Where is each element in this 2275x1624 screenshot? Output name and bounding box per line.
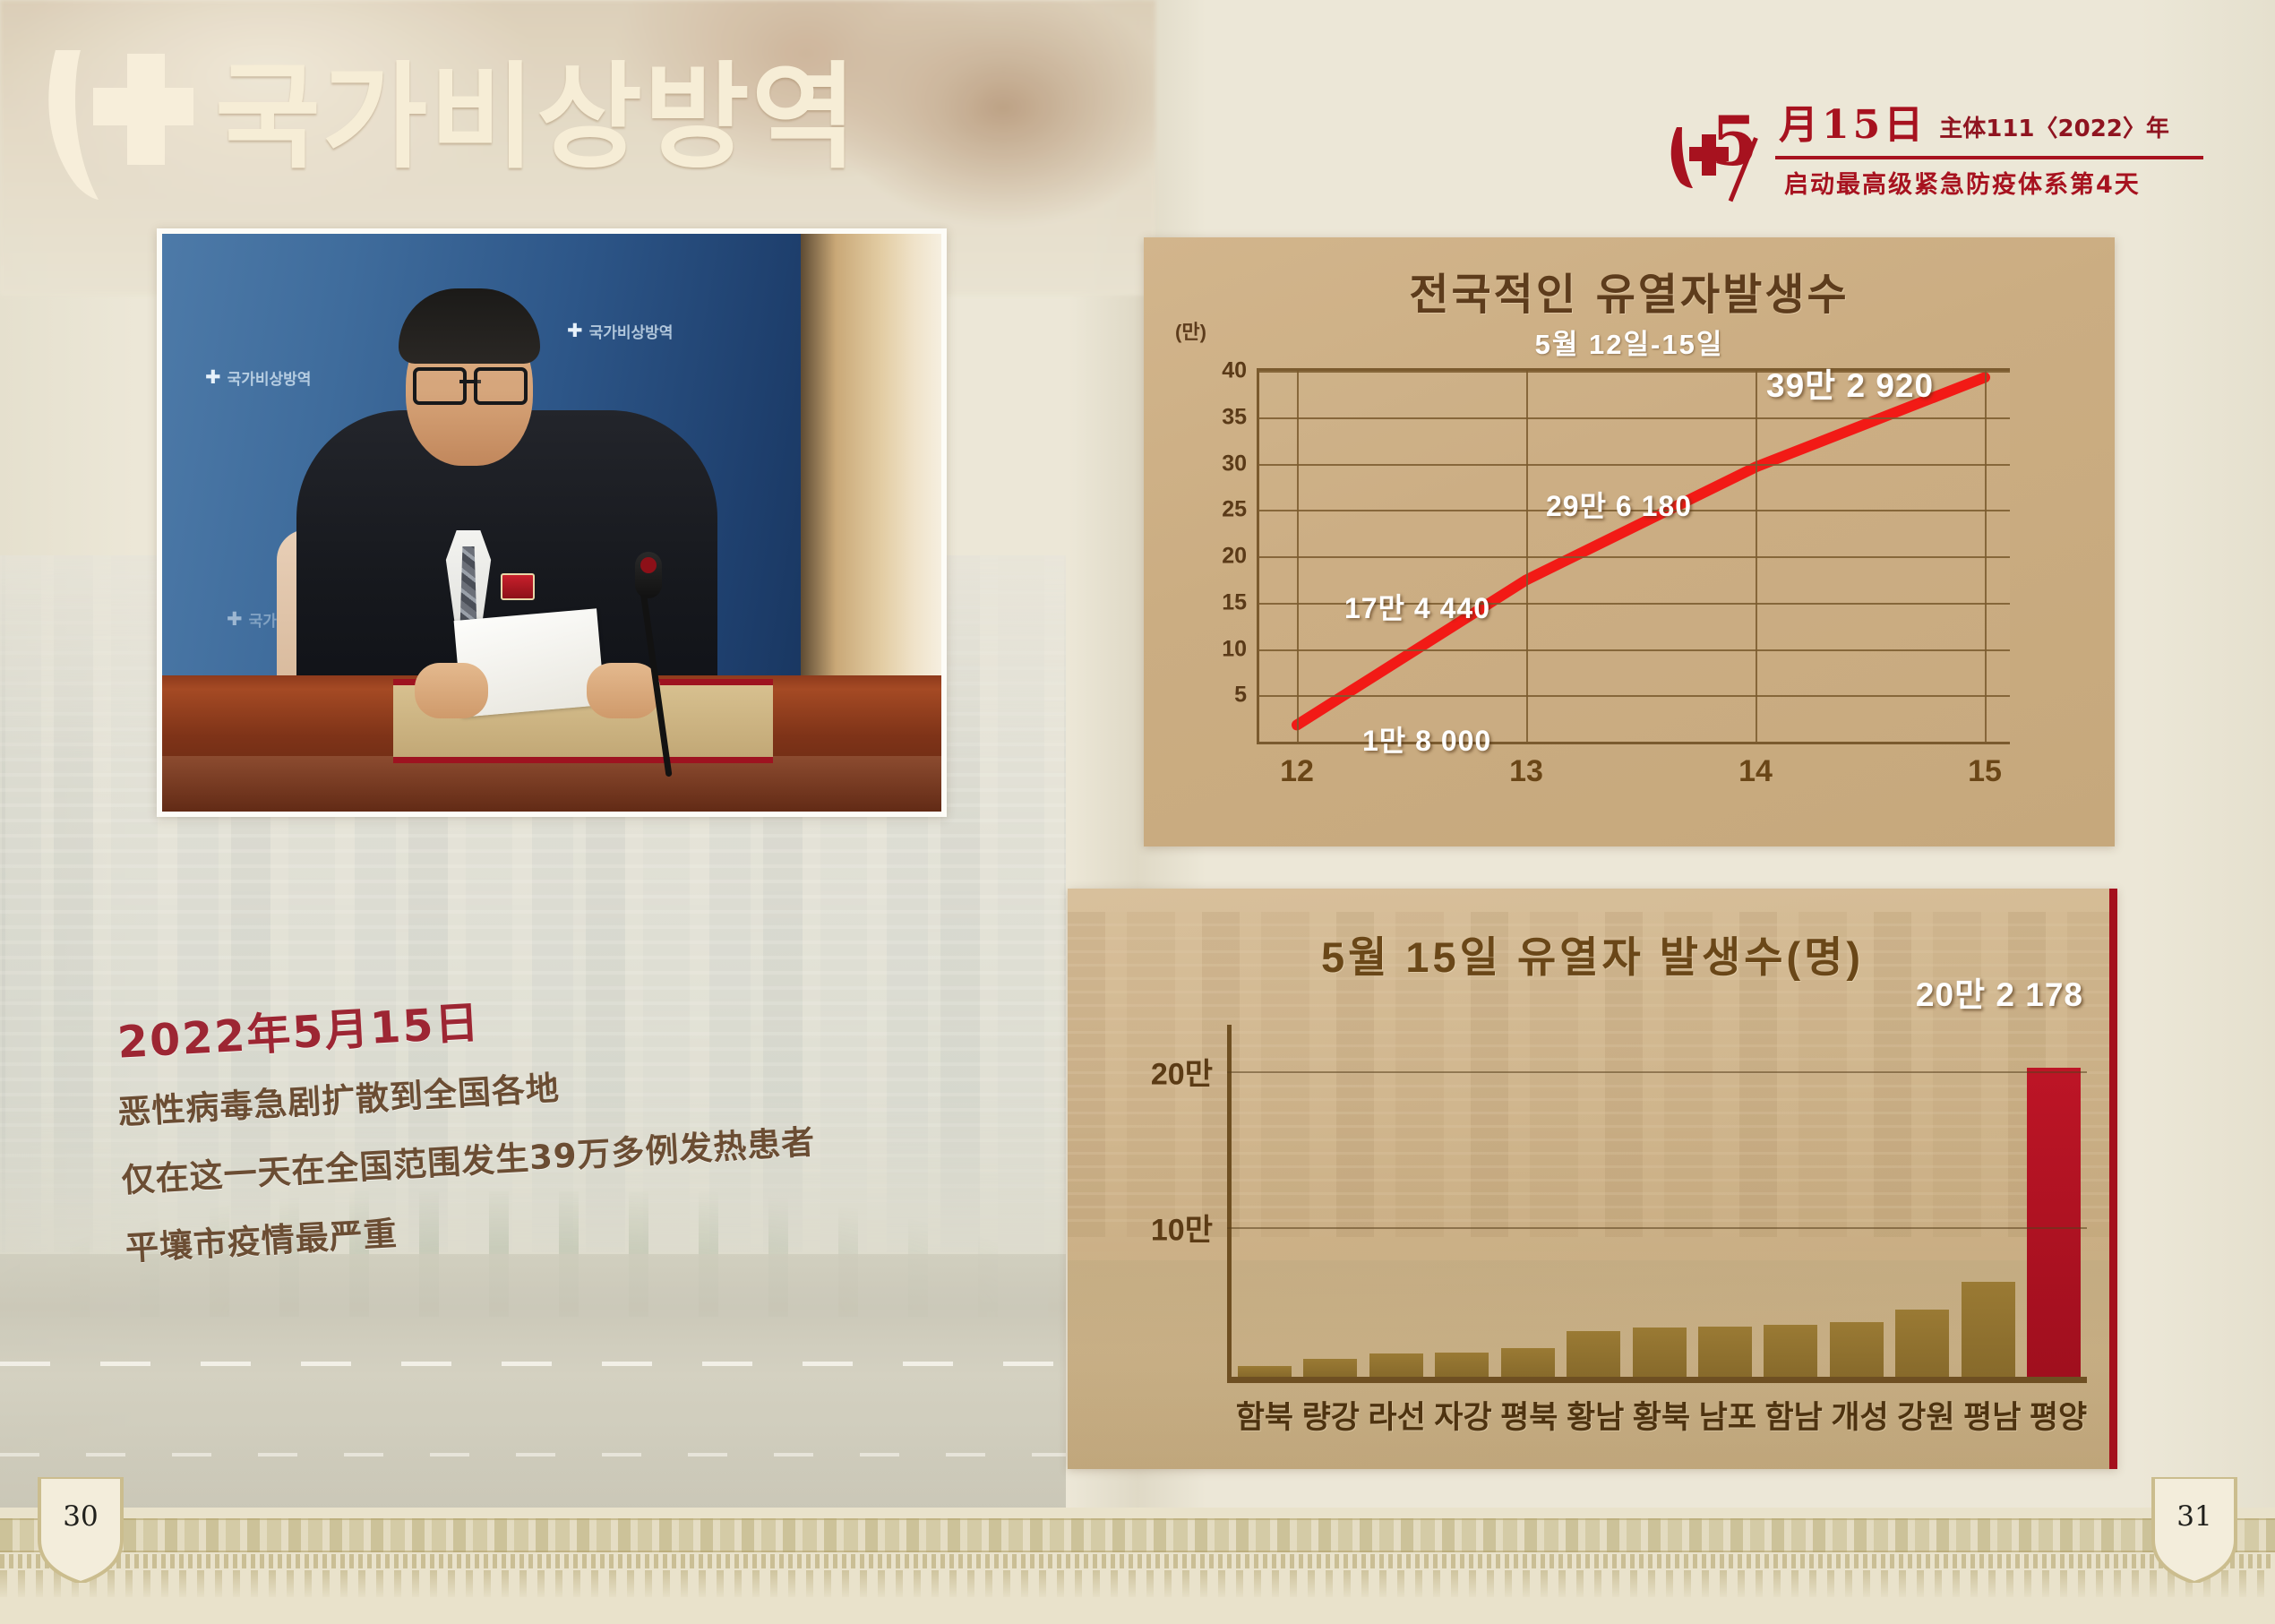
bar-chart-category-label: 강원 (1893, 1392, 1959, 1438)
backdrop-logo-label: 국가비상방역 (589, 320, 674, 342)
bar-chart-y-tick: 20만 (1151, 1050, 1213, 1094)
page-number-left: 30 (34, 1477, 127, 1583)
bar-chart-category-label: 황남 (1562, 1392, 1628, 1438)
line-chart-unit-label: (만) (1175, 316, 1206, 345)
line-chart-y-tick: 25 (1222, 497, 1247, 523)
line-chart-y-tick: 5 (1234, 683, 1247, 709)
page-number-right-label: 31 (2148, 1500, 2241, 1533)
medical-cross-icon: ✚ (205, 368, 221, 387)
photo-right-hand (587, 663, 660, 718)
bar-chart-category-label: 개성 (1827, 1392, 1893, 1438)
line-chart-y-tick: 30 (1222, 451, 1247, 477)
line-chart-title: 전국적인 유열자발생수 (1144, 259, 2115, 322)
page-number-left-label: 30 (34, 1500, 127, 1533)
line-chart-x-tick: 15 (1968, 754, 2002, 789)
bar-chart-bar-slot (1692, 1025, 1757, 1377)
bar-chart-highlight-value: 20만 2 178 (1916, 967, 2083, 1016)
line-chart-gridline (1259, 695, 2010, 697)
bar-chart-bar-slot (1758, 1025, 1824, 1377)
bar-chart-category-label: 평북 (1496, 1392, 1562, 1438)
bar-chart-bar (1369, 1353, 1423, 1377)
photo-left-hand (415, 663, 488, 718)
bar-chart-gridline (1227, 1071, 2087, 1073)
line-chart-panel: 전국적인 유열자발생수 5월 12일-15일 (만) 5101520253035… (1144, 237, 2115, 846)
slide-canvas: 국가비상방역 5 月15日 主体111〈2022〉年 启动最高级紧急防疫体系第4… (0, 0, 2275, 1624)
bar-chart-y-tick: 10만 (1151, 1206, 1213, 1250)
bar-chart-bar (1435, 1353, 1489, 1377)
bar-chart-category-label: 자강 (1430, 1392, 1497, 1438)
bar-chart-bar-slot (1429, 1025, 1494, 1377)
medical-cross-icon: ✚ (227, 610, 243, 629)
line-chart-y-tick: 15 (1222, 589, 1247, 615)
bar-chart-category-label: 함북 (1232, 1392, 1298, 1438)
bar-chart-plot-area: 10만20만 (1227, 1025, 2087, 1383)
line-chart-data-label: 29만 6 180 (1546, 484, 1692, 525)
bar-chart-bar (1303, 1359, 1357, 1378)
bar-chart-bar-slot (1363, 1025, 1429, 1377)
bar-chart-bar (1764, 1325, 1817, 1377)
line-chart-gridline-v (1985, 371, 1987, 742)
line-chart-y-tick: 35 (1222, 404, 1247, 430)
line-chart-data-label: 17만 4 440 (1344, 586, 1490, 627)
line-chart-x-tick: 13 (1509, 754, 1543, 789)
bar-chart-bar-highlight (2027, 1068, 2081, 1377)
photo-desk-reflection (162, 756, 941, 812)
line-chart-gridline (1259, 417, 2010, 419)
bar-chart-bar (1830, 1322, 1884, 1378)
line-chart-x-tick: 12 (1280, 754, 1314, 789)
line-chart-gridline (1259, 464, 2010, 466)
bar-chart-accent-stripe (2109, 889, 2117, 1469)
line-chart-y-tick: 20 (1222, 544, 1247, 570)
bar-chart-bar-slot (1955, 1025, 2021, 1377)
bar-chart-bar-slot (1560, 1025, 1626, 1377)
bar-chart-category-label: 남포 (1695, 1392, 1761, 1438)
photo-glasses (413, 367, 528, 398)
ribbon-month-day: 月15日 (1779, 106, 1927, 145)
bar-chart-bars (1232, 1025, 2087, 1377)
backdrop-logo-label: 국가비상방역 (227, 366, 312, 389)
photo-lapel-badge (501, 573, 535, 600)
bar-chart-bar-slot (1232, 1025, 1297, 1377)
line-chart-plot-area: 510152025303540121314151만 8 00017만 4 440… (1257, 368, 2010, 744)
bar-chart-bar-slot (1890, 1025, 1955, 1377)
anchor-photo: ✚ 국가비상방역 ✚ 국가비상방역 ✚ 국가비상방역 ✚ 국가비상방역 (157, 228, 947, 817)
line-chart-gridline-v (1756, 371, 1757, 742)
bar-chart-bar (1238, 1366, 1292, 1377)
footer-dot-band (0, 1554, 2275, 1568)
bar-chart-category-label: 평양 (2025, 1392, 2091, 1438)
ribbon-rule (1775, 156, 2203, 159)
line-chart-data-label: 39만 2 920 (1766, 358, 1934, 407)
line-chart-y-tick: 40 (1222, 358, 1247, 384)
medical-cross-icon: ✚ (567, 322, 583, 340)
line-chart-data-label: 1만 8 000 (1362, 718, 1491, 760)
backdrop-logo: ✚ 국가비상방역 (205, 366, 311, 389)
line-chart-polyline (1297, 377, 1985, 725)
line-chart-subtitle: 5월 12일-15일 (1144, 322, 2115, 362)
bar-chart-bar (1501, 1348, 1555, 1377)
bar-chart-category-label: 평남 (1959, 1392, 2025, 1438)
bar-chart-x-labels: 함북량강라선자강평북황남황북남포함남개성강원평남평양 (1232, 1392, 2091, 1438)
bar-chart-gridline (1227, 1227, 2087, 1229)
ribbon-juche-year: 主体111〈2022〉年 (1939, 115, 2169, 145)
bar-chart-bar (1895, 1310, 1949, 1377)
bar-chart-category-label: 황북 (1628, 1392, 1695, 1438)
bar-chart-category-label: 함남 (1761, 1392, 1827, 1438)
page-footer (0, 1508, 2275, 1624)
date-ribbon: 5 月15日 主体111〈2022〉年 启动最高级紧急防疫体系第4天 (1668, 104, 2205, 210)
bar-chart-bar (1633, 1328, 1687, 1377)
caption-block: 2022年5月15日 恶性病毒急剧扩散到全国各地 仅在这一天在全国范围发生39万… (112, 961, 969, 1303)
line-chart-gridline (1259, 649, 2010, 651)
backdrop-logo: ✚ 국가비상방역 (567, 320, 673, 342)
line-chart-gridline-v (1297, 371, 1299, 742)
bar-chart-bar (1698, 1327, 1752, 1377)
line-chart-y-tick: 10 (1222, 636, 1247, 662)
line-chart-gridline (1259, 556, 2010, 558)
bar-chart-x-axis (1227, 1377, 2087, 1383)
page-number-right: 31 (2148, 1477, 2241, 1583)
line-chart-gridline-v (1526, 371, 1528, 742)
ribbon-subtitle: 启动最高级紧急防疫体系第4天 (1784, 165, 2141, 200)
line-chart-x-tick: 14 (1738, 754, 1773, 789)
bar-chart-panel: 5월 15일 유열자 발생수(명) 20만 2 178 10만20만 함북량강라… (1068, 889, 2117, 1469)
bar-chart-category-label: 량강 (1298, 1392, 1364, 1438)
bar-chart-bar-slot (1627, 1025, 1692, 1377)
bar-chart-bar-slot (1824, 1025, 1889, 1377)
footer-ornament-band (0, 1518, 2275, 1552)
microphone-icon (635, 552, 662, 598)
bar-chart-category-label: 라선 (1364, 1392, 1430, 1438)
bar-chart-bar-slot (1297, 1025, 1362, 1377)
bar-chart-bar-slot (1495, 1025, 1560, 1377)
bar-chart-bar (1962, 1282, 2015, 1377)
bar-chart-bar-slot (2022, 1025, 2087, 1377)
footer-fringe-band (0, 1570, 2275, 1597)
bar-chart-bar (1567, 1331, 1620, 1377)
